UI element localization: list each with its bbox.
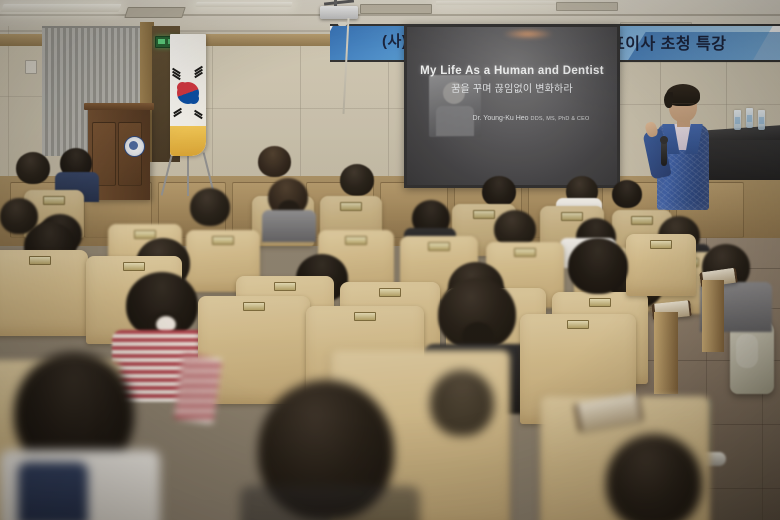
glasses-icon — [672, 103, 694, 109]
wall-seam — [0, 96, 44, 97]
audience-head — [482, 176, 516, 207]
audience-striped-sleeve — [174, 354, 223, 425]
seat-number-plate — [567, 320, 589, 329]
seat-number-plate — [354, 312, 376, 321]
seat-number-plate — [274, 282, 296, 291]
audience-torso — [18, 462, 88, 520]
slide-surface: My Life As a Human and Dentist 꿈을 꾸며 끊임없… — [407, 27, 617, 185]
audience-head — [258, 146, 291, 177]
audience-torso — [240, 486, 420, 520]
taeguk-blue — [188, 93, 199, 104]
audience-head — [16, 152, 50, 184]
institution-emblem-icon — [124, 136, 145, 157]
slide-presenter: Dr. Young-Ku Heo DDS, MS, PhD & CEO — [453, 115, 609, 122]
water-bottle[interactable] — [746, 108, 753, 128]
ceiling-light — [436, 1, 556, 5]
audience-head — [190, 188, 230, 226]
slide-presenter-credentials: DDS, MS, PhD & CEO — [531, 116, 590, 122]
audience-head — [430, 370, 494, 436]
seat-number-plate — [589, 298, 611, 307]
seat-number-plate — [29, 256, 51, 265]
seat-number-plate — [212, 236, 234, 245]
side-table-body — [706, 140, 780, 180]
banner-text-right: 표이사 초청 특강 — [610, 30, 726, 54]
seat-column — [654, 312, 678, 394]
slide-presenter-name: Dr. Young-Ku Heo — [473, 115, 529, 122]
microphone-icon — [661, 140, 667, 166]
seat-number-plate — [428, 242, 450, 251]
slide-title: My Life As a Human and Dentist — [407, 65, 617, 77]
auditorium-seat[interactable] — [0, 250, 88, 336]
seat-number-plate — [243, 302, 265, 311]
seat-number-plate — [345, 236, 367, 245]
ceiling-vent — [124, 7, 186, 18]
audience-head — [340, 164, 374, 196]
taeguk-red — [177, 82, 188, 93]
wall-seam — [300, 46, 301, 178]
wall-seam — [620, 62, 780, 63]
speaker-person — [645, 84, 717, 214]
wall-seam — [212, 46, 213, 178]
wall-seam — [186, 108, 426, 109]
ceiling-seam — [0, 14, 780, 16]
water-bottle[interactable] — [734, 110, 741, 130]
auditorium-seat[interactable] — [626, 234, 696, 296]
ceiling-light — [0, 4, 121, 12]
ceiling-vent — [360, 4, 432, 14]
seat-number-plate — [340, 202, 362, 211]
seat-number-plate — [123, 262, 145, 271]
ceiling-light — [195, 2, 292, 7]
projector-glare — [502, 29, 554, 39]
audience-head-foreground — [606, 434, 702, 520]
projection-screen: My Life As a Human and Dentist 꿈을 꾸며 끊임없… — [404, 24, 620, 188]
audience-head — [612, 180, 642, 208]
seat-number-plate — [134, 230, 156, 239]
podium-top — [84, 103, 154, 110]
seat-column — [702, 280, 724, 352]
smoke-detector — [338, 22, 347, 26]
audience-head — [568, 238, 628, 294]
wall-seam — [388, 46, 389, 178]
seat-number-plate — [631, 216, 653, 225]
slide-subtitle: 꿈을 꾸며 끊임없이 변화하라 — [407, 80, 617, 95]
ceiling-projector — [320, 6, 358, 19]
seat-number-plate — [43, 196, 65, 205]
water-bottle[interactable] — [758, 110, 765, 130]
wall-switch-plate[interactable] — [25, 60, 37, 74]
audience-torso — [262, 210, 316, 242]
korean-flag — [170, 34, 206, 156]
seat-number-plate — [561, 212, 583, 221]
seat-number-plate — [650, 240, 672, 249]
wall-seam — [8, 26, 9, 176]
lecture-hall-photo: (사)강원의 표이사 초청 특강 My Life As a Human and … — [0, 0, 780, 520]
seat-number-plate — [514, 248, 536, 257]
flag-fringe — [170, 126, 206, 156]
seat-number-plate — [473, 210, 495, 219]
ceiling-vent — [556, 2, 618, 11]
seat-number-plate — [379, 288, 401, 297]
